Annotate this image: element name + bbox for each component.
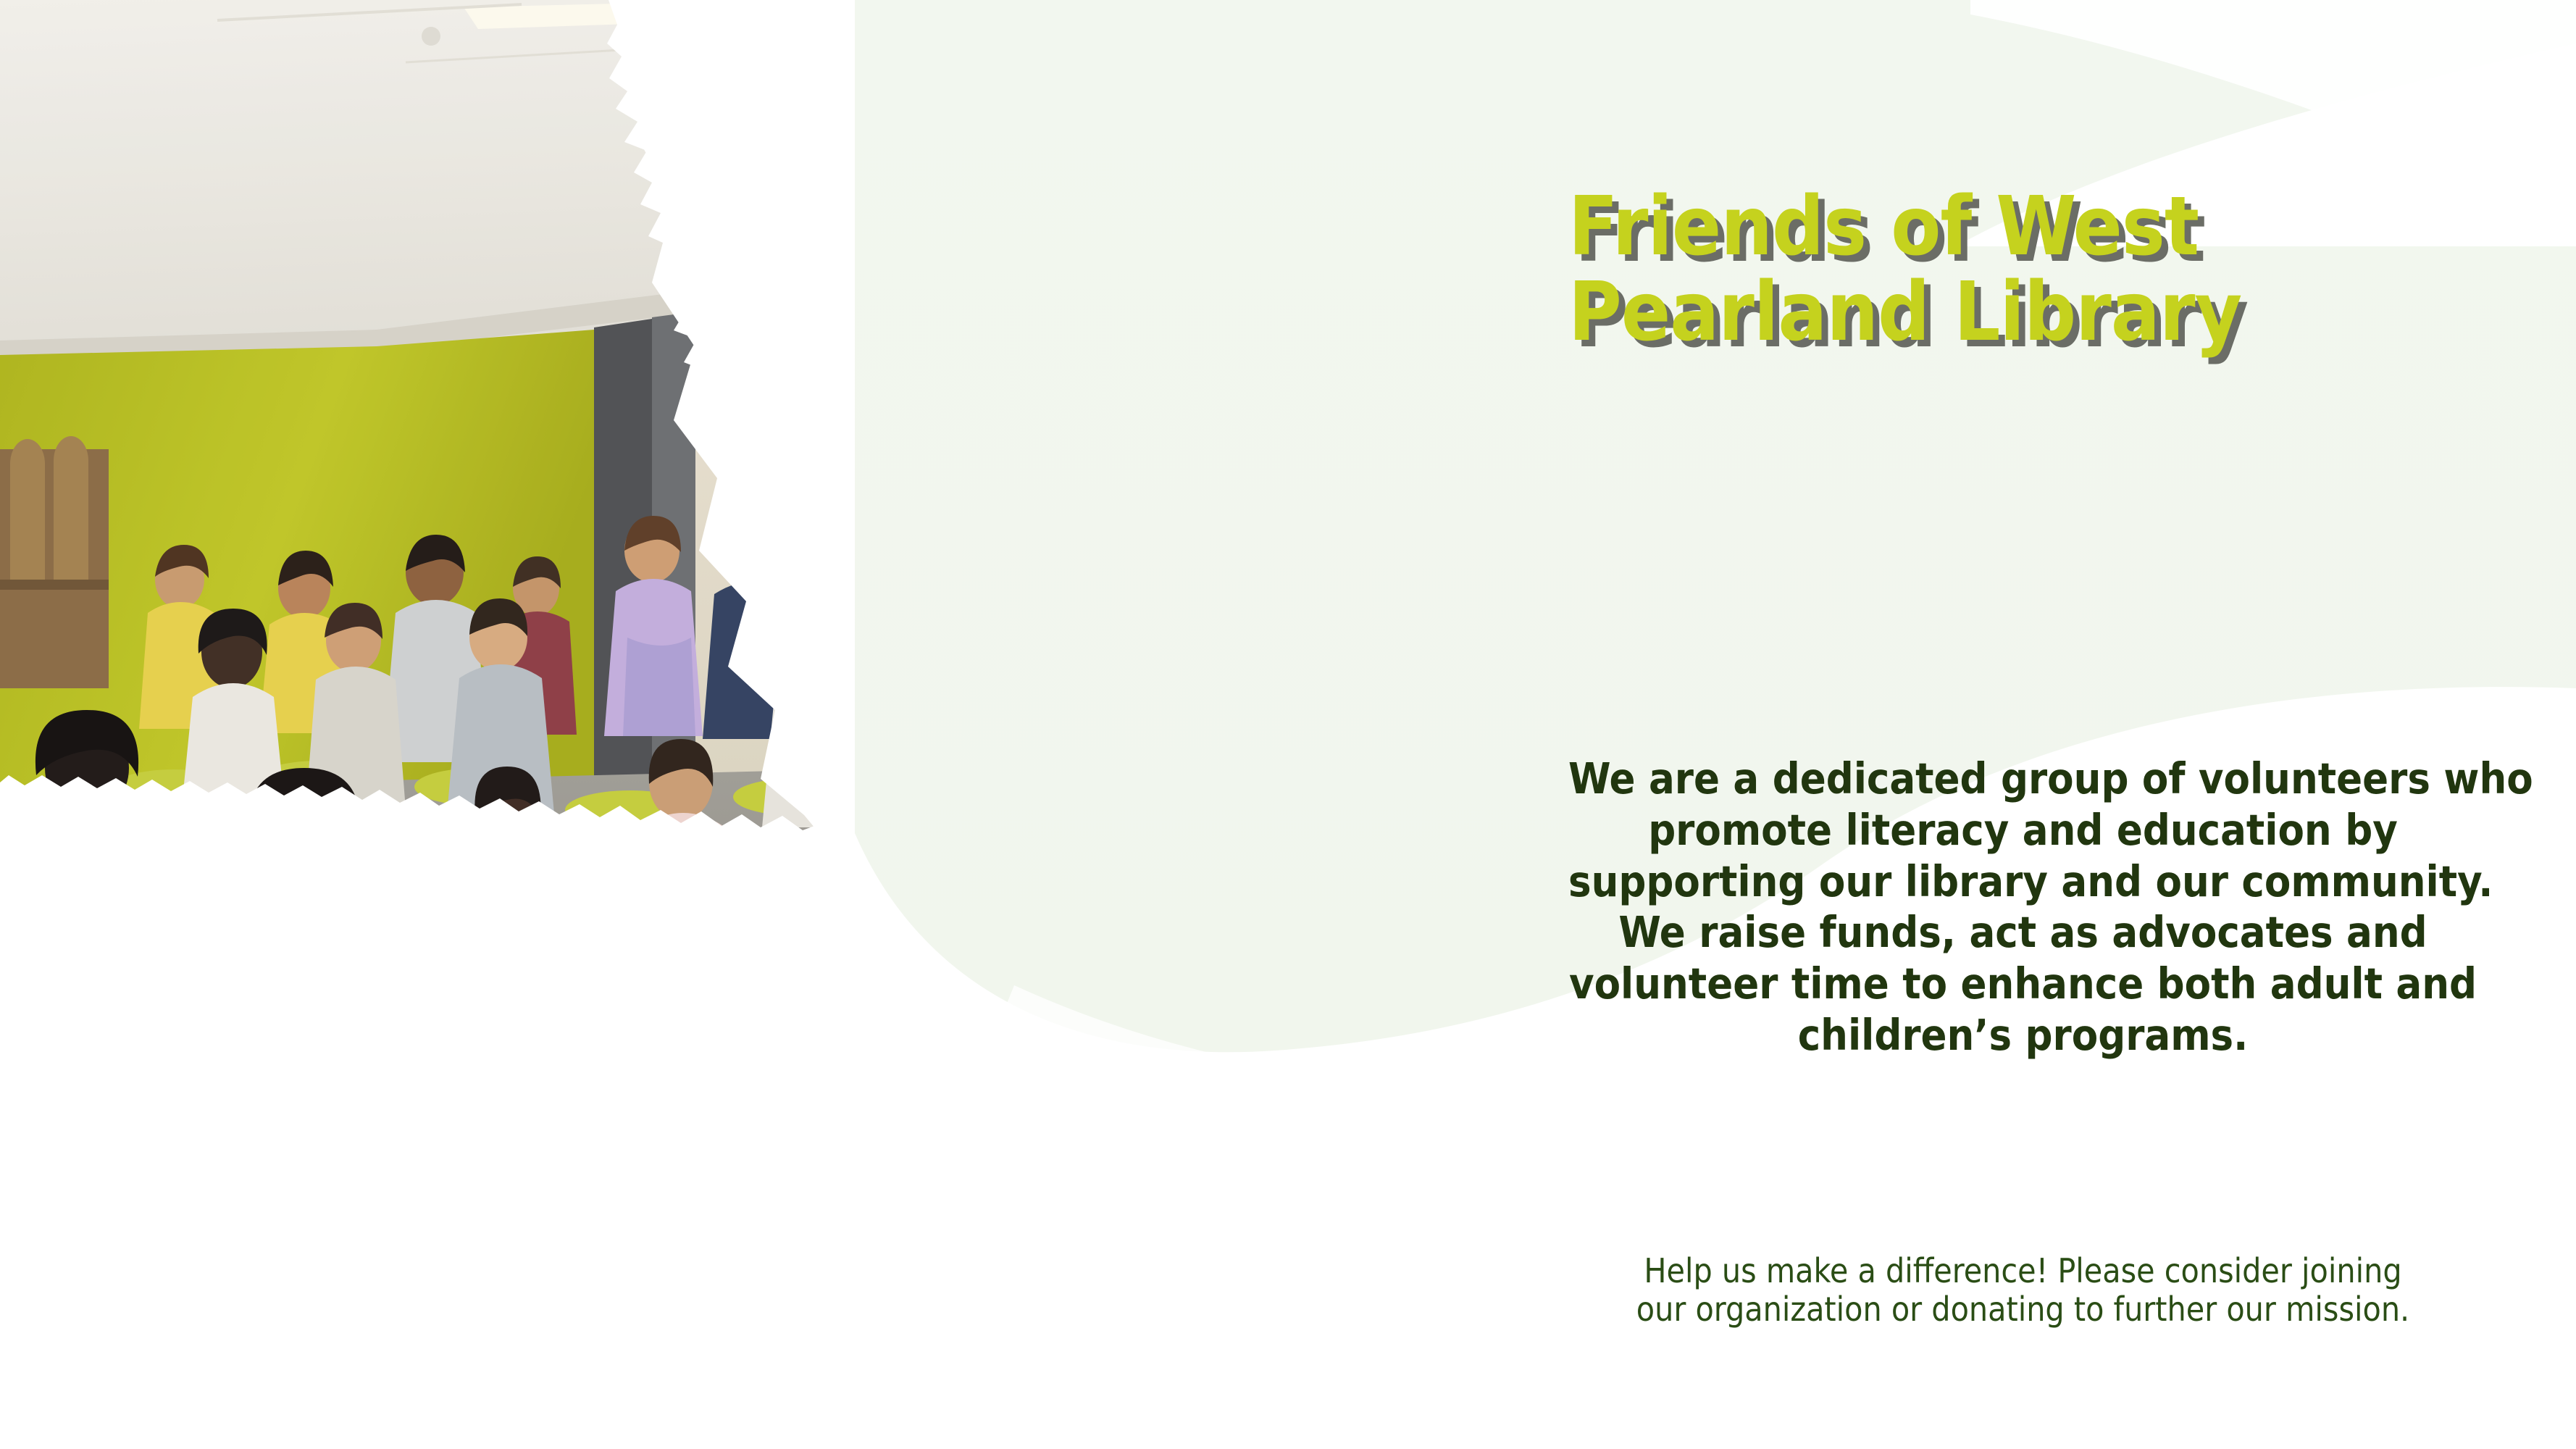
held-book: [861, 454, 910, 513]
library-program-photo: Time For a Book!: [0, 0, 1492, 1449]
title-line-2: Pearland Library: [1568, 270, 2423, 356]
screen-cloud: [1023, 322, 1326, 488]
mission-line: supporting our library and our community…: [1568, 856, 2477, 908]
title-line-1: Friends of West: [1568, 185, 2423, 270]
floor-bags: [1056, 882, 1405, 1021]
presenter: [861, 407, 980, 814]
cta-line: our organization or donating to further …: [1568, 1290, 2477, 1329]
presentation-table: [1027, 542, 1459, 793]
mission-line: children’s programs.: [1568, 1010, 2477, 1061]
presentation-screen: Time For a Book!: [1014, 316, 1333, 674]
mission-line: promote literacy and education by: [1568, 805, 2477, 856]
clerestory-windows: [710, 119, 1087, 239]
screen-text-line2: Book!: [1133, 411, 1214, 446]
slide-canvas: Time For a Book!: [0, 0, 2576, 1449]
screen-text-line1: Time For a: [1098, 363, 1250, 398]
cta-line: Help us make a difference! Please consid…: [1568, 1252, 2477, 1290]
call-to-action: Help us make a difference! Please consid…: [1568, 1252, 2477, 1329]
mission-line: volunteer time to enhance both adult and: [1568, 959, 2477, 1010]
page-title: Friends of West Pearland Library: [1568, 185, 2423, 355]
mission-statement: We are a dedicated group of volunteers w…: [1568, 753, 2477, 1061]
mission-line: We raise funds, act as advocates and: [1568, 907, 2477, 959]
mission-line: We are a dedicated group of volunteers w…: [1568, 753, 2477, 805]
floor-tiles: [797, 777, 1492, 1145]
water-bottle: [335, 819, 359, 898]
